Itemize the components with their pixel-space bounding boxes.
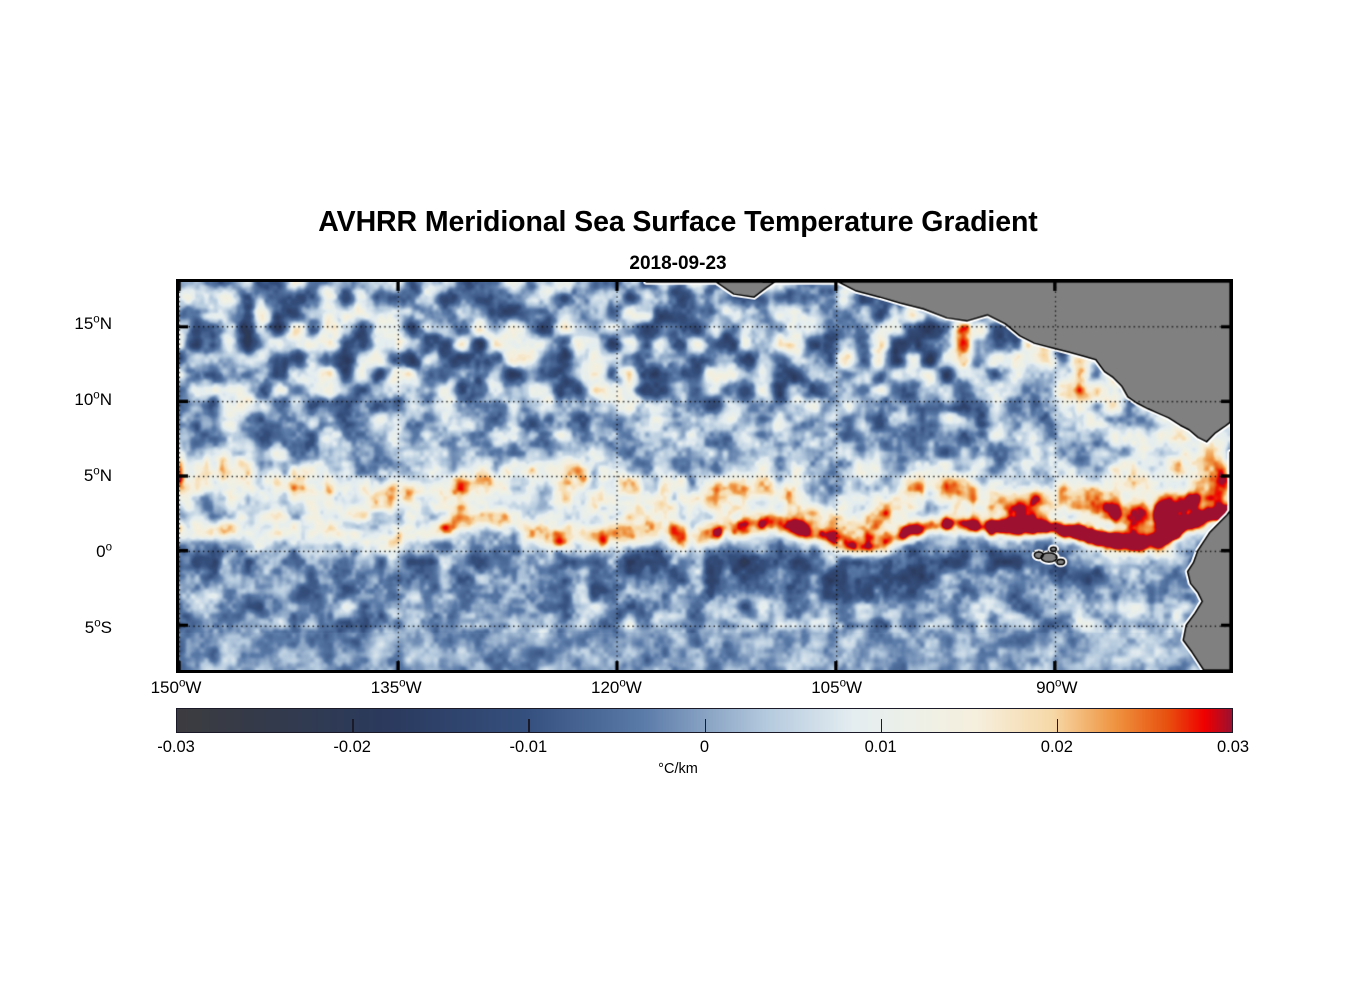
colorbar	[176, 708, 1233, 733]
colorbar-tick-label: -0.03	[157, 738, 195, 757]
chart-subtitle-date: 2018-09-23	[0, 253, 1356, 275]
y-tick-label: 15oN	[74, 314, 112, 334]
sst-gradient-heatmap	[179, 282, 1230, 670]
map-plot-area	[176, 279, 1233, 673]
colorbar-tick-label: 0.01	[865, 738, 897, 757]
x-tick-label: 135oW	[371, 678, 422, 698]
y-tick-label: 10oN	[74, 390, 112, 410]
x-tick-label: 90oW	[1036, 678, 1077, 698]
colorbar-tick-label: -0.01	[510, 738, 548, 757]
x-tick-label: 105oW	[811, 678, 862, 698]
x-tick-label: 150oW	[151, 678, 202, 698]
colorbar-unit-label: °C/km	[0, 761, 1356, 777]
page-title: AVHRR Meridional Sea Surface Temperature…	[0, 206, 1356, 239]
y-tick-label: 0o	[96, 542, 112, 562]
colorbar-tick-label: 0.02	[1041, 738, 1073, 757]
y-tick-label: 5oN	[84, 466, 112, 486]
colorbar-tick-label: -0.02	[333, 738, 371, 757]
colorbar-gradient	[177, 709, 1232, 732]
colorbar-tick-label: 0.03	[1217, 738, 1249, 757]
x-tick-label: 120oW	[591, 678, 642, 698]
colorbar-tick-label: 0	[700, 738, 709, 757]
y-tick-label: 5oS	[85, 618, 112, 638]
